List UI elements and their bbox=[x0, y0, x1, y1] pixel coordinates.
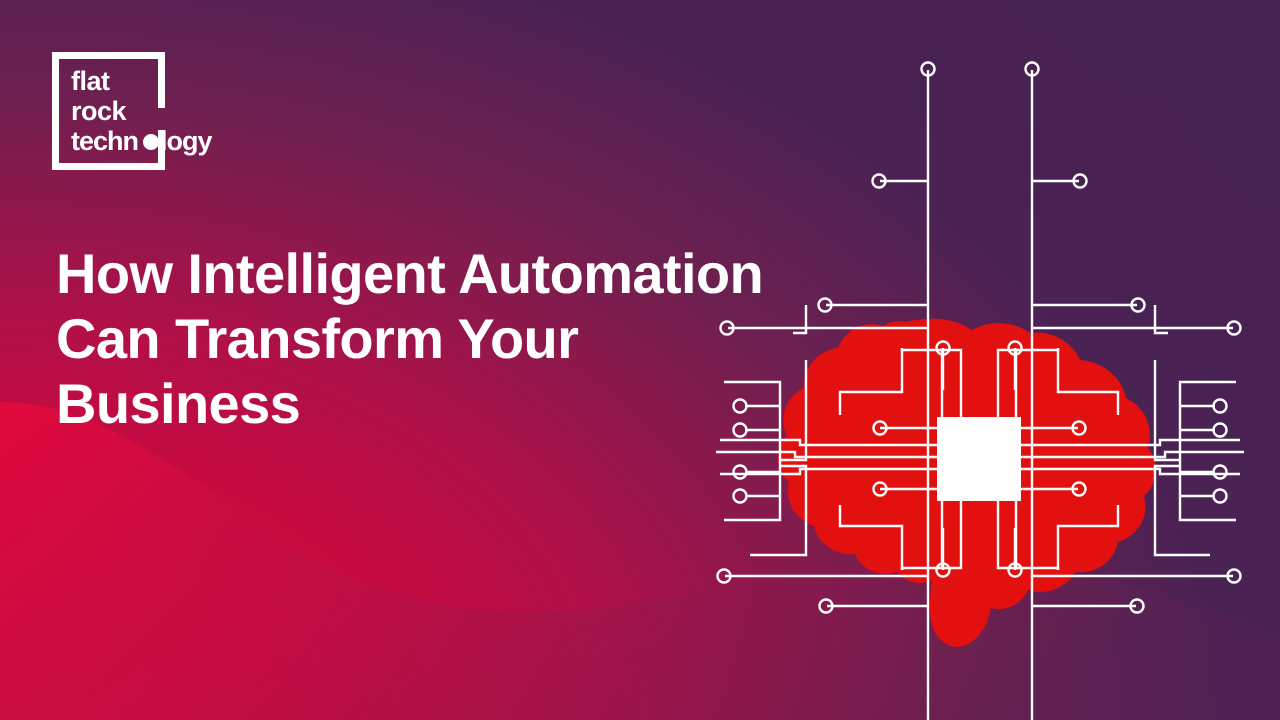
hero-banner: flat rock techn logy How Intelligent Aut… bbox=[0, 0, 1280, 720]
logo-text-rock: rock bbox=[71, 96, 128, 126]
logo-icon: flat rock techn logy bbox=[52, 52, 212, 170]
logo-text-logy: logy bbox=[160, 126, 212, 156]
logo-text-flat: flat bbox=[71, 66, 110, 96]
wave-path bbox=[0, 402, 1280, 720]
brand-logo[interactable]: flat rock techn logy bbox=[52, 52, 212, 170]
logo-dot-o bbox=[143, 134, 159, 150]
hero-title: How Intelligent Automation Can Transform… bbox=[56, 241, 896, 436]
logo-text-technology: techn bbox=[71, 126, 138, 156]
